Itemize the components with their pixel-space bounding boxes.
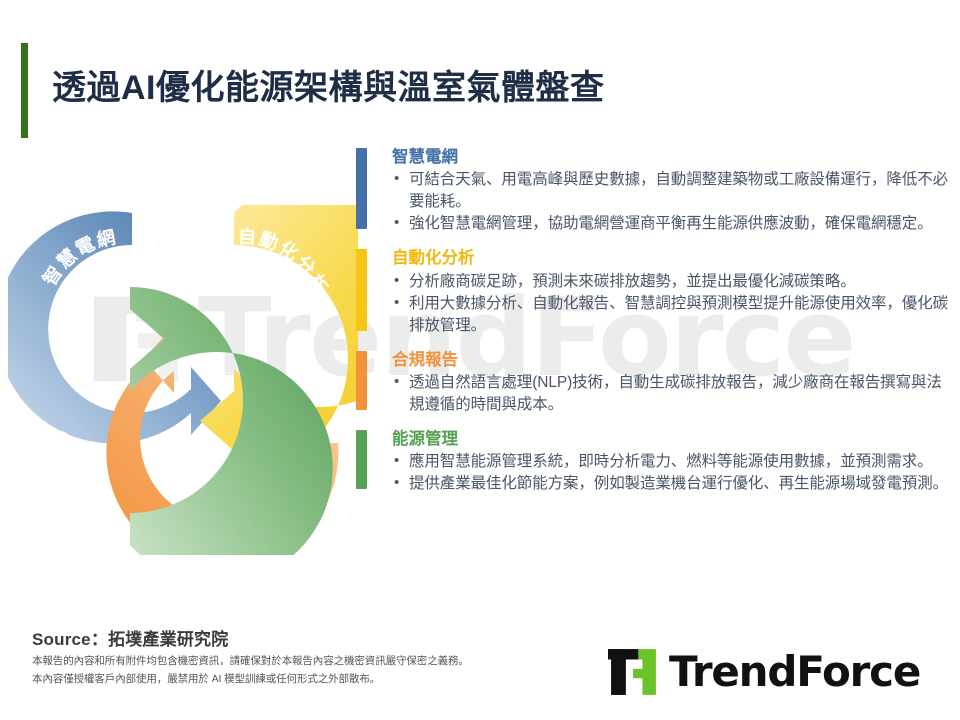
trendforce-logo-text: TrendForce — [669, 651, 920, 693]
section-smart-grid: 智慧電網 可結合天氣、用電高峰與歷史數據，自動調整建築物或工廠設備運行，降低不必… — [356, 146, 952, 235]
section-energy-management: 能源管理 應用智慧能源管理系統，即時分析電力、燃料等能源使用數據，並預測需求。 … — [356, 428, 952, 495]
list-item: 應用智慧能源管理系統，即時分析電力、燃料等能源使用數據，並預測需求。 — [392, 451, 952, 473]
section-compliance-report: 合規報告 透過自然語言處理(NLP)技術，自動生成碳排放報告，減少廠商在報告撰寫… — [356, 349, 952, 416]
list-item: 可結合天氣、用電高峰與歷史數據，自動調整建築物或工廠設備運行，降低不必要能耗。 — [392, 169, 952, 213]
section-bullets-automated-analysis: 分析廠商碳足跡，預測未來碳排放趨勢，並提出最優化減碳策略。 利用大數據分析、自動… — [392, 271, 952, 337]
cyclical-arrow-diagram: 智慧電網 自動化分析 合規報告 能源管理 — [8, 205, 358, 555]
page-title: 透過AI優化能源架構與溫室氣體盤查 — [52, 60, 605, 109]
section-heading-smart-grid: 智慧電網 — [392, 146, 952, 168]
disclaimer: 本報告的內容和所有附件均包含機密資訊，請確保對於本報告內容之機密資訊嚴守保密之義… — [32, 652, 469, 689]
content-sections: 智慧電網 可結合天氣、用電高峰與歷史數據，自動調整建築物或工廠設備運行，降低不必… — [356, 146, 952, 507]
section-heading-compliance-report: 合規報告 — [392, 349, 952, 371]
section-bullets-smart-grid: 可結合天氣、用電高峰與歷史數據，自動調整建築物或工廠設備運行，降低不必要能耗。 … — [392, 169, 952, 235]
section-bullets-compliance-report: 透過自然語言處理(NLP)技術，自動生成碳排放報告，減少廠商在報告撰寫與法規遵循… — [392, 372, 952, 416]
list-item: 強化智慧電網管理，協助電網營運商平衡再生能源供應波動，確保電網穩定。 — [392, 213, 952, 235]
source-label: Source：拓墣產業研究院 — [32, 625, 228, 650]
section-heading-automated-analysis: 自動化分析 — [392, 247, 952, 269]
disclaimer-line-1: 本報告的內容和所有附件均包含機密資訊，請確保對於本報告內容之機密資訊嚴守保密之義… — [32, 652, 469, 670]
section-automated-analysis: 自動化分析 分析廠商碳足跡，預測未來碳排放趨勢，並提出最優化減碳策略。 利用大數… — [356, 247, 952, 336]
trendforce-logo: TrendForce — [606, 646, 920, 698]
disclaimer-line-2: 本內容僅授權客戶內部使用，嚴禁用於 AI 模型訓練或任何形式之外部散布。 — [32, 670, 469, 688]
list-item: 提供產業最佳化節能方案，例如製造業機台運行優化、再生能源場域發電預測。 — [392, 473, 952, 495]
trendforce-logo-mark — [606, 646, 658, 698]
section-accent-bar-smart-grid — [356, 148, 367, 229]
list-item: 透過自然語言處理(NLP)技術，自動生成碳排放報告，減少廠商在報告撰寫與法規遵循… — [392, 372, 952, 416]
title-accent-bar — [21, 43, 28, 138]
section-heading-energy-management: 能源管理 — [392, 428, 952, 450]
section-accent-bar-energy-management — [356, 430, 367, 489]
list-item: 分析廠商碳足跡，預測未來碳排放趨勢，並提出最優化減碳策略。 — [392, 271, 952, 293]
section-bullets-energy-management: 應用智慧能源管理系統，即時分析電力、燃料等能源使用數據，並預測需求。 提供產業最… — [392, 451, 952, 495]
slide-canvas: TrendForce 透過AI優化能源架構與溫室氣體盤查 — [0, 0, 960, 720]
section-accent-bar-compliance-report — [356, 351, 367, 410]
section-accent-bar-automated-analysis — [356, 249, 367, 330]
list-item: 利用大數據分析、自動化報告、智慧調控與預測模型提升能源使用效率，優化碳排放管理。 — [392, 293, 952, 337]
